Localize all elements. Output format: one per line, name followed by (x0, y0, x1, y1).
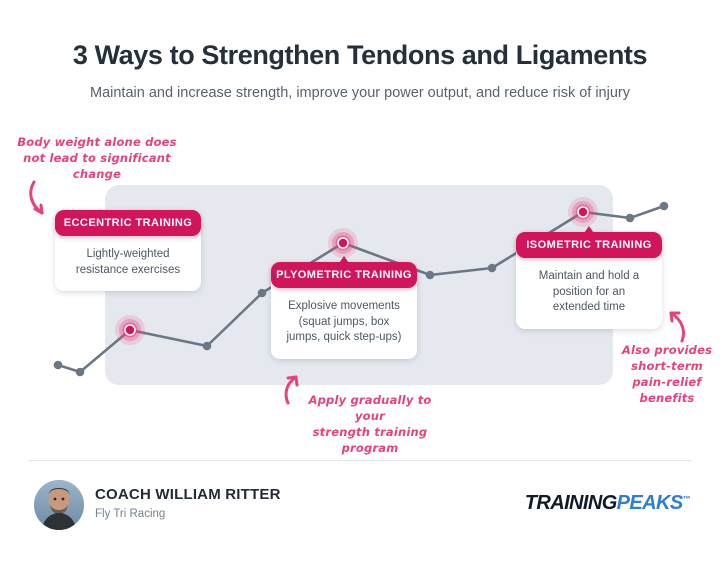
card-isometric-line-2: position for an (528, 285, 650, 301)
chart-point-highlighted[interactable] (125, 325, 135, 335)
chart-point[interactable] (258, 289, 267, 298)
card-isometric-line-3: extended time (528, 300, 650, 316)
avatar (34, 480, 84, 530)
coach-name: COACH WILLIAM RITTER (95, 486, 281, 503)
chart-point-highlighted[interactable] (338, 238, 348, 248)
annotation-painrelief-line-4: benefits (620, 390, 714, 406)
infographic-canvas: 3 Ways to Strengthen Tendons and Ligamen… (0, 0, 720, 561)
card-isometric-training[interactable]: ISOMETRIC TRAINING Maintain and hold a p… (516, 232, 662, 329)
annotation-bodyweight: Body weight alone does not lead to signi… (12, 134, 182, 182)
annotation-painrelief-line-1: Also provides (620, 342, 714, 358)
chart-point[interactable] (76, 368, 85, 377)
trainingpeaks-logo: TRAININGPEAKS™ (525, 492, 690, 515)
annotation-bodyweight-line-2: not lead to significant (12, 150, 182, 166)
card-plyometric-training[interactable]: PLYOMETRIC TRAINING Explosive movements … (271, 262, 417, 359)
card-plyometric-line-1: Explosive movements (283, 299, 405, 315)
annotation-painrelief-line-3: pain-relief (620, 374, 714, 390)
card-eccentric-line-1: Lightly-weighted (67, 247, 189, 263)
card-eccentric-training[interactable]: ECCENTRIC TRAINING Lightly-weighted resi… (55, 210, 201, 291)
card-plyometric-heading-text: PLYOMETRIC TRAINING (276, 269, 412, 281)
annotation-apply-gradually: Apply gradually to your strength trainin… (295, 392, 445, 456)
card-isometric-line-1: Maintain and hold a (528, 269, 650, 285)
chart-point[interactable] (660, 202, 669, 211)
card-eccentric-line-2: resistance exercises (67, 263, 189, 279)
card-plyometric-body: Explosive movements (squat jumps, box ju… (271, 288, 417, 359)
chart-point[interactable] (488, 264, 497, 273)
logo-peaks-text: PEAKS (617, 492, 683, 514)
coach-team: Fly Tri Racing (95, 508, 165, 520)
annotation-gradual-line-1: Apply gradually to your (295, 392, 445, 424)
arrow-down-right-icon (28, 180, 68, 222)
card-isometric-heading-text: ISOMETRIC TRAINING (526, 239, 651, 251)
card-eccentric-body: Lightly-weighted resistance exercises (55, 236, 201, 291)
annotation-gradual-line-2: strength training (295, 424, 445, 440)
footer-divider (28, 460, 692, 461)
annotation-painrelief-line-2: short-term (620, 358, 714, 374)
annotation-pain-relief: Also provides short-term pain-relief ben… (620, 342, 714, 406)
card-isometric-body: Maintain and hold a position for an exte… (516, 258, 662, 329)
annotation-gradual-line-3: program (295, 440, 445, 456)
chart-point-highlighted[interactable] (578, 207, 588, 217)
chart-point[interactable] (54, 361, 63, 370)
logo-trademark: ™ (683, 494, 690, 503)
annotation-bodyweight-line-1: Body weight alone does (12, 134, 182, 150)
chart-point[interactable] (203, 342, 212, 351)
arrow-up-left-icon (664, 310, 694, 342)
arrow-up-icon (282, 374, 308, 404)
logo-training-text: TRAINING (525, 492, 617, 514)
card-eccentric-heading: ECCENTRIC TRAINING (55, 210, 201, 236)
chart-point[interactable] (626, 214, 635, 223)
card-plyometric-heading: PLYOMETRIC TRAINING (271, 262, 417, 288)
chart-point[interactable] (426, 271, 435, 280)
card-plyometric-line-2: (squat jumps, box (283, 315, 405, 331)
card-plyometric-line-3: jumps, quick step-ups) (283, 330, 405, 346)
card-isometric-heading: ISOMETRIC TRAINING (516, 232, 662, 258)
